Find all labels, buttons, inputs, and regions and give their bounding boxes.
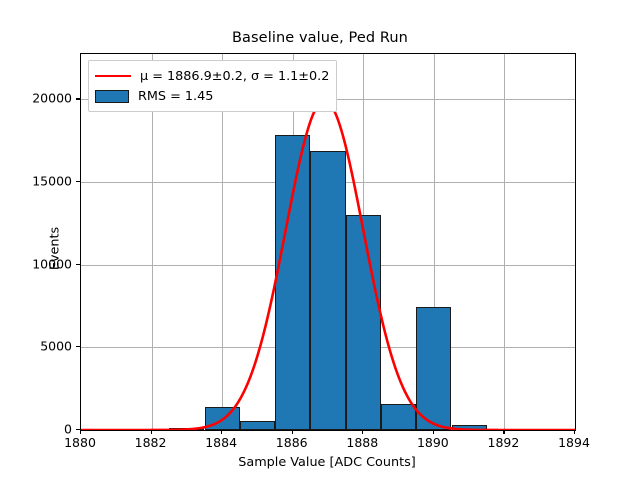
- x-axis-label: Sample Value [ADC Counts]: [80, 455, 574, 470]
- x-tick-label-1886: 1886: [276, 435, 308, 450]
- chart-title: Baseline value, Ped Run: [0, 30, 640, 46]
- legend-entry-fit: μ = 1886.9±0.2, σ = 1.1±0.2: [95, 66, 329, 86]
- x-tick-label-1890: 1890: [417, 435, 449, 450]
- x-tick-mark-1892: [503, 430, 504, 434]
- y-tick-mark-10000: [76, 264, 80, 265]
- histogram-bar: [381, 404, 416, 430]
- histogram-bar: [240, 421, 275, 430]
- histogram-bar: [452, 425, 487, 430]
- chart-figure: Baseline value, Ped Run 1880188218841886…: [0, 0, 640, 480]
- y-tick-mark-0: [76, 429, 80, 430]
- histogram-bar: [310, 151, 345, 430]
- x-tick-mark-1888: [362, 430, 363, 434]
- histogram-bar: [205, 407, 240, 430]
- x-tick-label-1880: 1880: [64, 435, 96, 450]
- y-tick-label-20000: 20000: [32, 91, 72, 106]
- x-tick-mark-1880: [80, 430, 81, 434]
- x-tick-label-1882: 1882: [135, 435, 167, 450]
- histogram-bar: [169, 428, 204, 430]
- histogram-bar: [416, 307, 451, 430]
- x-tick-mark-1884: [221, 430, 222, 434]
- y-tick-mark-5000: [76, 346, 80, 347]
- x-tick-mark-1894: [574, 430, 575, 434]
- y-tick-label-0: 0: [64, 422, 72, 437]
- x-tick-mark-1890: [433, 430, 434, 434]
- x-tick-mark-1882: [151, 430, 152, 434]
- histogram-bar: [275, 135, 310, 430]
- y-axis-label: Events: [48, 189, 63, 309]
- x-tick-label-1894: 1894: [558, 435, 590, 450]
- legend-entry-rms: RMS = 1.45: [95, 86, 329, 106]
- x-tick-mark-1886: [292, 430, 293, 434]
- y-tick-label-15000: 15000: [32, 174, 72, 189]
- legend-line-swatch-icon: [95, 75, 131, 77]
- y-tick-label-5000: 5000: [40, 339, 72, 354]
- x-tick-label-1884: 1884: [205, 435, 237, 450]
- x-tick-label-1892: 1892: [488, 435, 520, 450]
- y-tick-mark-15000: [76, 181, 80, 182]
- legend-label-rms: RMS = 1.45: [138, 89, 213, 104]
- y-tick-mark-20000: [76, 98, 80, 99]
- histogram-bar: [346, 215, 381, 430]
- chart-legend: μ = 1886.9±0.2, σ = 1.1±0.2 RMS = 1.45: [88, 60, 337, 112]
- gridline-vertical-1892: [504, 54, 505, 430]
- x-tick-label-1888: 1888: [346, 435, 378, 450]
- legend-label-fit: μ = 1886.9±0.2, σ = 1.1±0.2: [140, 69, 329, 84]
- legend-patch-swatch-icon: [95, 90, 129, 103]
